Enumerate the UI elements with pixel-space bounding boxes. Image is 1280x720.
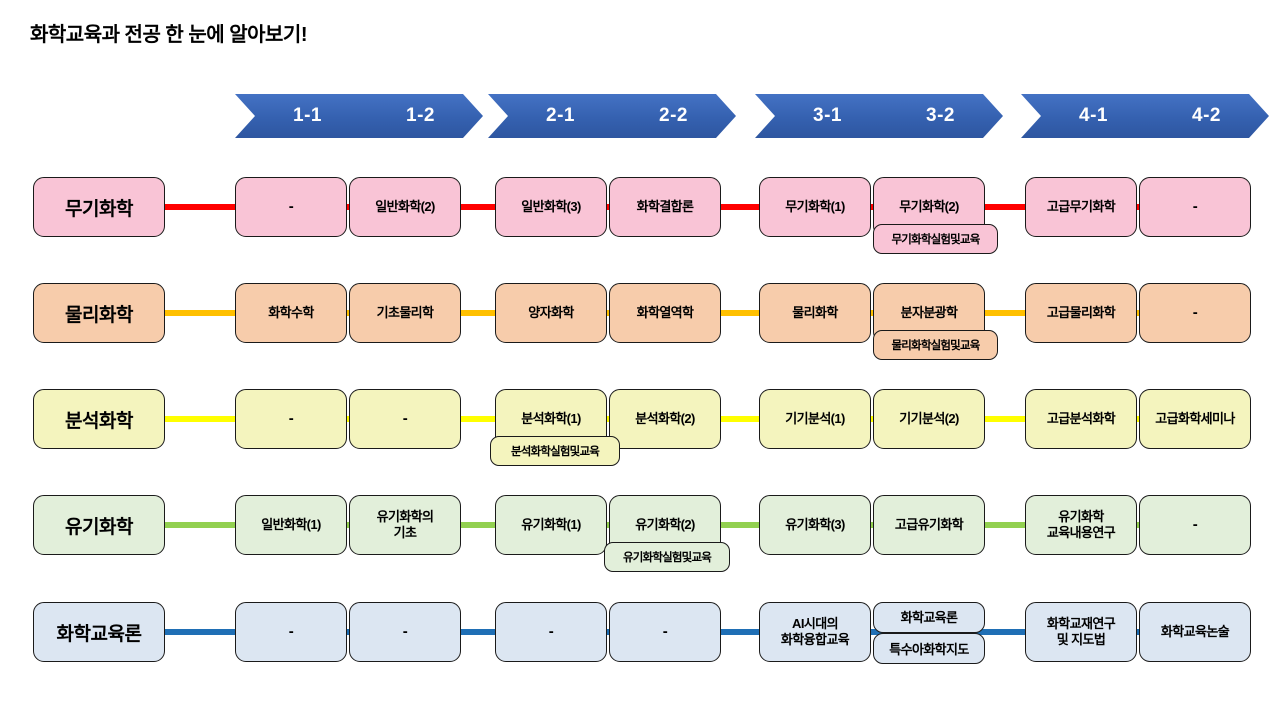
course-cell[interactable]: 화학열역학 (609, 283, 721, 343)
course-cell[interactable]: 고급유기화학 (873, 495, 985, 555)
course-cell[interactable]: 분석화학(2) (609, 389, 721, 449)
course-cell[interactable]: 유기화학(3) (759, 495, 871, 555)
course-cell[interactable]: 기기분석(1) (759, 389, 871, 449)
course-subcell[interactable]: 유기화학실험및교육 (604, 542, 730, 572)
course-cell-empty[interactable]: - (235, 389, 347, 449)
course-subcell[interactable]: 물리화학실험및교육 (873, 330, 998, 360)
semester-chevron-2-2: 2-2 (601, 94, 736, 138)
page-title: 화학교육과 전공 한 눈에 알아보기! (30, 18, 307, 47)
course-cell-empty[interactable]: - (1139, 177, 1251, 237)
course-cell-empty[interactable]: - (235, 602, 347, 662)
course-cell[interactable]: 화학수학 (235, 283, 347, 343)
course-cell[interactable]: 화학교육론 (873, 602, 985, 633)
row-label-inorganic[interactable]: 무기화학 (33, 177, 165, 237)
course-subcell[interactable]: 특수아화학지도 (873, 633, 985, 664)
course-cell[interactable]: 일반화학(2) (349, 177, 461, 237)
course-cell[interactable]: 화학교재연구 및 지도법 (1025, 602, 1137, 662)
course-cell[interactable]: 기초물리학 (349, 283, 461, 343)
course-cell[interactable]: 양자화학 (495, 283, 607, 343)
row-label-education[interactable]: 화학교육론 (33, 602, 165, 662)
course-cell[interactable]: 무기화학(1) (759, 177, 871, 237)
course-cell[interactable]: 화학결합론 (609, 177, 721, 237)
course-cell-empty[interactable]: - (349, 602, 461, 662)
row-label-analytical[interactable]: 분석화학 (33, 389, 165, 449)
curriculum-row-education: 화학교육론----AI시대의 화학융합교육화학교육론특수아화학지도화학교재연구 … (0, 602, 1280, 662)
course-subcell[interactable]: 분석화학실험및교육 (490, 436, 620, 466)
curriculum-row-organic: 유기화학일반화학(1)유기화학의 기초유기화학(1)유기화학(2)유기화학실험및… (0, 495, 1280, 555)
course-cell[interactable]: 화학교육논술 (1139, 602, 1251, 662)
course-cell[interactable]: 고급화학세미나 (1139, 389, 1251, 449)
semester-chevron-3-1: 3-1 (755, 94, 890, 138)
course-cell[interactable]: 물리화학 (759, 283, 871, 343)
semester-chevron-4-2: 4-2 (1134, 94, 1269, 138)
course-cell-empty[interactable]: - (1139, 495, 1251, 555)
course-cell[interactable]: 고급물리화학 (1025, 283, 1137, 343)
course-cell[interactable]: AI시대의 화학융합교육 (759, 602, 871, 662)
course-cell[interactable]: 일반화학(1) (235, 495, 347, 555)
course-cell-empty[interactable]: - (609, 602, 721, 662)
course-cell[interactable]: 기기분석(2) (873, 389, 985, 449)
semester-chevron-4-1: 4-1 (1021, 94, 1156, 138)
curriculum-row-inorganic: 무기화학-일반화학(2)일반화학(3)화학결합론무기화학(1)무기화학(2)무기… (0, 177, 1280, 237)
course-cell[interactable]: 고급무기화학 (1025, 177, 1137, 237)
semester-header: 1-11-22-12-23-13-24-14-2 (0, 94, 1280, 138)
row-label-organic[interactable]: 유기화학 (33, 495, 165, 555)
curriculum-row-physical: 물리화학화학수학기초물리학양자화학화학열역학물리화학분자분광학물리화학실험및교육… (0, 283, 1280, 343)
course-cell-empty[interactable]: - (349, 389, 461, 449)
semester-chevron-2-1: 2-1 (488, 94, 623, 138)
course-cell[interactable]: 유기화학의 기초 (349, 495, 461, 555)
course-cell[interactable]: 유기화학(1) (495, 495, 607, 555)
course-cell-empty[interactable]: - (1139, 283, 1251, 343)
course-cell-empty[interactable]: - (495, 602, 607, 662)
course-cell-empty[interactable]: - (235, 177, 347, 237)
semester-chevron-1-2: 1-2 (348, 94, 483, 138)
course-cell[interactable]: 일반화학(3) (495, 177, 607, 237)
course-subcell[interactable]: 무기화학실험및교육 (873, 224, 998, 254)
curriculum-row-analytical: 분석화학--분석화학(1)분석화학실험및교육분석화학(2)기기분석(1)기기분석… (0, 389, 1280, 449)
course-cell[interactable]: 유기화학 교육내용연구 (1025, 495, 1137, 555)
semester-chevron-3-2: 3-2 (868, 94, 1003, 138)
course-cell[interactable]: 고급분석화학 (1025, 389, 1137, 449)
row-label-physical[interactable]: 물리화학 (33, 283, 165, 343)
semester-chevron-1-1: 1-1 (235, 94, 370, 138)
